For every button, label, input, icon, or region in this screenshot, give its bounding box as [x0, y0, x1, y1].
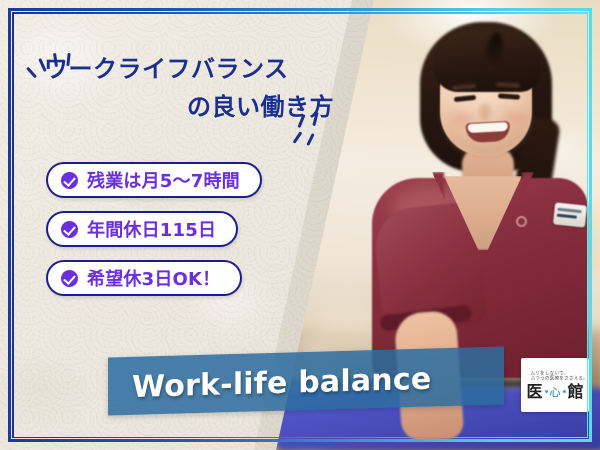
feature-pill-label: 年間休日115日 — [87, 216, 216, 242]
logo-char-kan: 館 — [568, 384, 584, 400]
nose — [479, 104, 491, 120]
logo-dot-icon — [545, 390, 548, 393]
feature-pill-label: 残業は月5〜7時間 — [87, 167, 240, 193]
headline-line-1: ワークライフバランス — [44, 50, 344, 88]
brand-logo: ムリをしないで、 ふつうの医療をささえる。 医 心 館 — [521, 358, 589, 412]
logo-char-i: 医 — [526, 384, 542, 400]
feature-list: 残業は月5〜7時間 年間休日115日 希望休3日OK！ — [46, 162, 262, 309]
feature-pill-holidays: 年間休日115日 — [46, 211, 238, 247]
heart-icon: 心 — [550, 387, 561, 398]
feature-pill-label: 希望休3日OK！ — [87, 265, 220, 291]
logo-wordmark: 医 心 館 — [526, 384, 583, 400]
logo-dot-icon — [563, 390, 566, 393]
check-circle-icon — [61, 172, 78, 189]
name-badge — [553, 202, 587, 227]
page-title: ワークライフバランス の良い働き方 — [44, 50, 344, 126]
feature-pill-overtime: 残業は月5〜7時間 — [46, 162, 262, 198]
badge-line — [557, 208, 581, 213]
logo-tagline-2: ふつうの医療をささえる。 — [526, 374, 588, 382]
scrub-button — [516, 216, 527, 227]
teeth — [468, 122, 508, 133]
promo-banner-canvas: ワークライフバランス の良い働き方 残業は月5〜7時間 年間休日115日 希望休… — [0, 0, 600, 450]
badge-line — [557, 214, 577, 219]
feature-pill-requested-days: 希望休3日OK！ — [46, 260, 242, 296]
check-circle-icon — [61, 221, 78, 238]
check-circle-icon — [61, 270, 78, 287]
